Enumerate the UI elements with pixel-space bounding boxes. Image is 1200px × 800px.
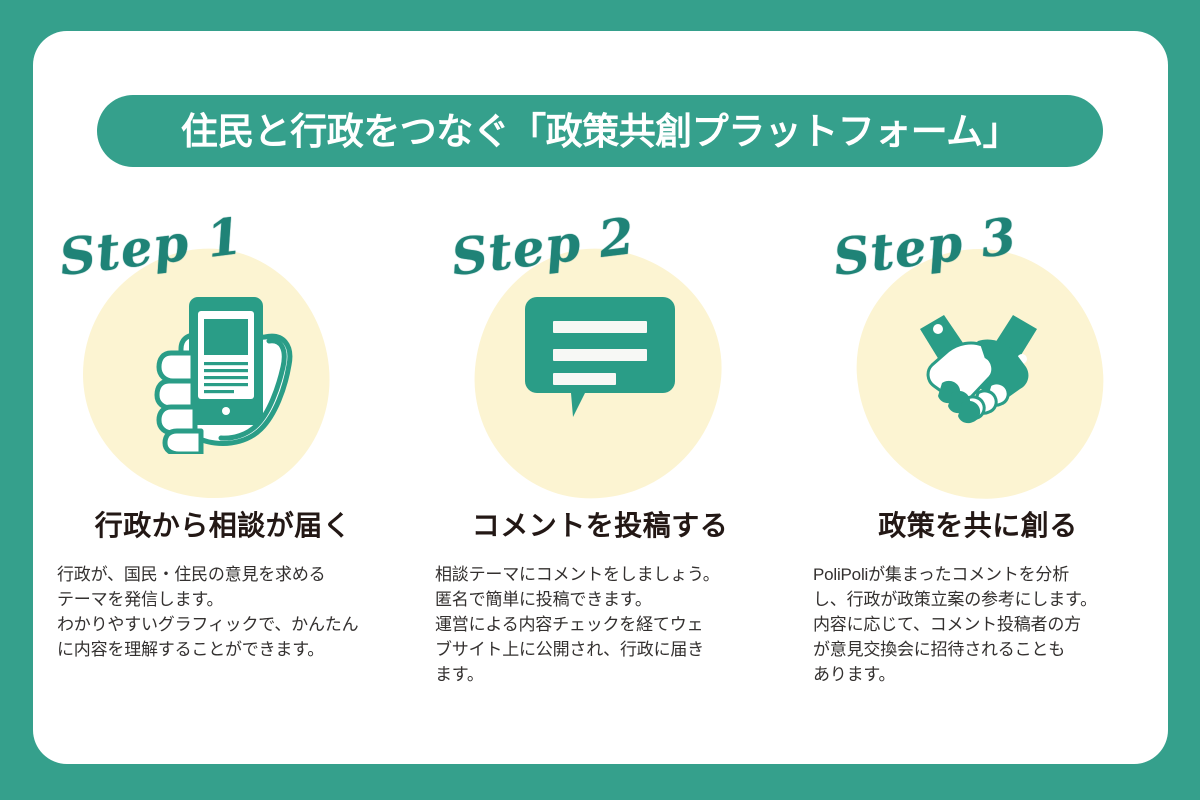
page-title: 住民と行政をつなぐ「政策共創プラットフォーム」 bbox=[181, 113, 1019, 150]
step-heading-3: 政策を共に創る bbox=[811, 509, 1145, 543]
step-heading-2: コメントを投稿する bbox=[433, 509, 767, 543]
body-line: し、行政が政策立案の参考にします。 bbox=[813, 588, 1145, 613]
body-line: あります。 bbox=[813, 663, 1145, 688]
step-card-2: Step 2 コメントを投稿する 相談テーマにコメントをしましょう。 匿名で簡単… bbox=[411, 211, 789, 688]
step-card-1: Step 1 bbox=[33, 211, 411, 688]
step-body-1: 行政が、国民・住民の意見を求める テーマを発信します。 わかりやすいグラフィック… bbox=[55, 563, 389, 663]
header-banner: 住民と行政をつなぐ「政策共創プラットフォーム」 bbox=[97, 95, 1103, 167]
body-line: 行政が、国民・住民の意見を求める bbox=[57, 563, 389, 588]
step-card-3: Step 3 bbox=[789, 211, 1167, 688]
step-visual-1: Step 1 bbox=[55, 211, 389, 503]
body-line: 匿名で簡単に投稿できます。 bbox=[435, 588, 767, 613]
hand-holding-smartphone-icon bbox=[55, 289, 389, 454]
handshake-icon bbox=[811, 307, 1145, 427]
step-body-2: 相談テーマにコメントをしましょう。 匿名で簡単に投稿できます。 運営による内容チ… bbox=[433, 563, 767, 688]
body-line: 相談テーマにコメントをしましょう。 bbox=[435, 563, 767, 588]
body-line: PoliPoliが集まったコメントを分析 bbox=[813, 563, 1145, 588]
poster-card: 住民と行政をつなぐ「政策共創プラットフォーム」 Step 1 bbox=[33, 31, 1168, 764]
step-heading-1: 行政から相談が届く bbox=[55, 509, 389, 543]
body-line: が意見交換会に招待されることも bbox=[813, 638, 1145, 663]
body-line: 運営による内容チェックを経てウェ bbox=[435, 613, 767, 638]
body-line: に内容を理解することができます。 bbox=[57, 638, 389, 663]
body-line: ます。 bbox=[435, 663, 767, 688]
body-line: 内容に応じて、コメント投稿者の方 bbox=[813, 613, 1145, 638]
speech-bubble-icon bbox=[433, 297, 767, 437]
body-line: わかりやすいグラフィックで、かんたん bbox=[57, 613, 389, 638]
step-visual-3: Step 3 bbox=[811, 211, 1145, 503]
body-line: テーマを発信します。 bbox=[57, 588, 389, 613]
body-line: ブサイト上に公開され、行政に届き bbox=[435, 638, 767, 663]
step-visual-2: Step 2 bbox=[433, 211, 767, 503]
step-body-3: PoliPoliが集まったコメントを分析 し、行政が政策立案の参考にします。 内… bbox=[811, 563, 1145, 688]
steps-row: Step 1 bbox=[33, 211, 1168, 688]
